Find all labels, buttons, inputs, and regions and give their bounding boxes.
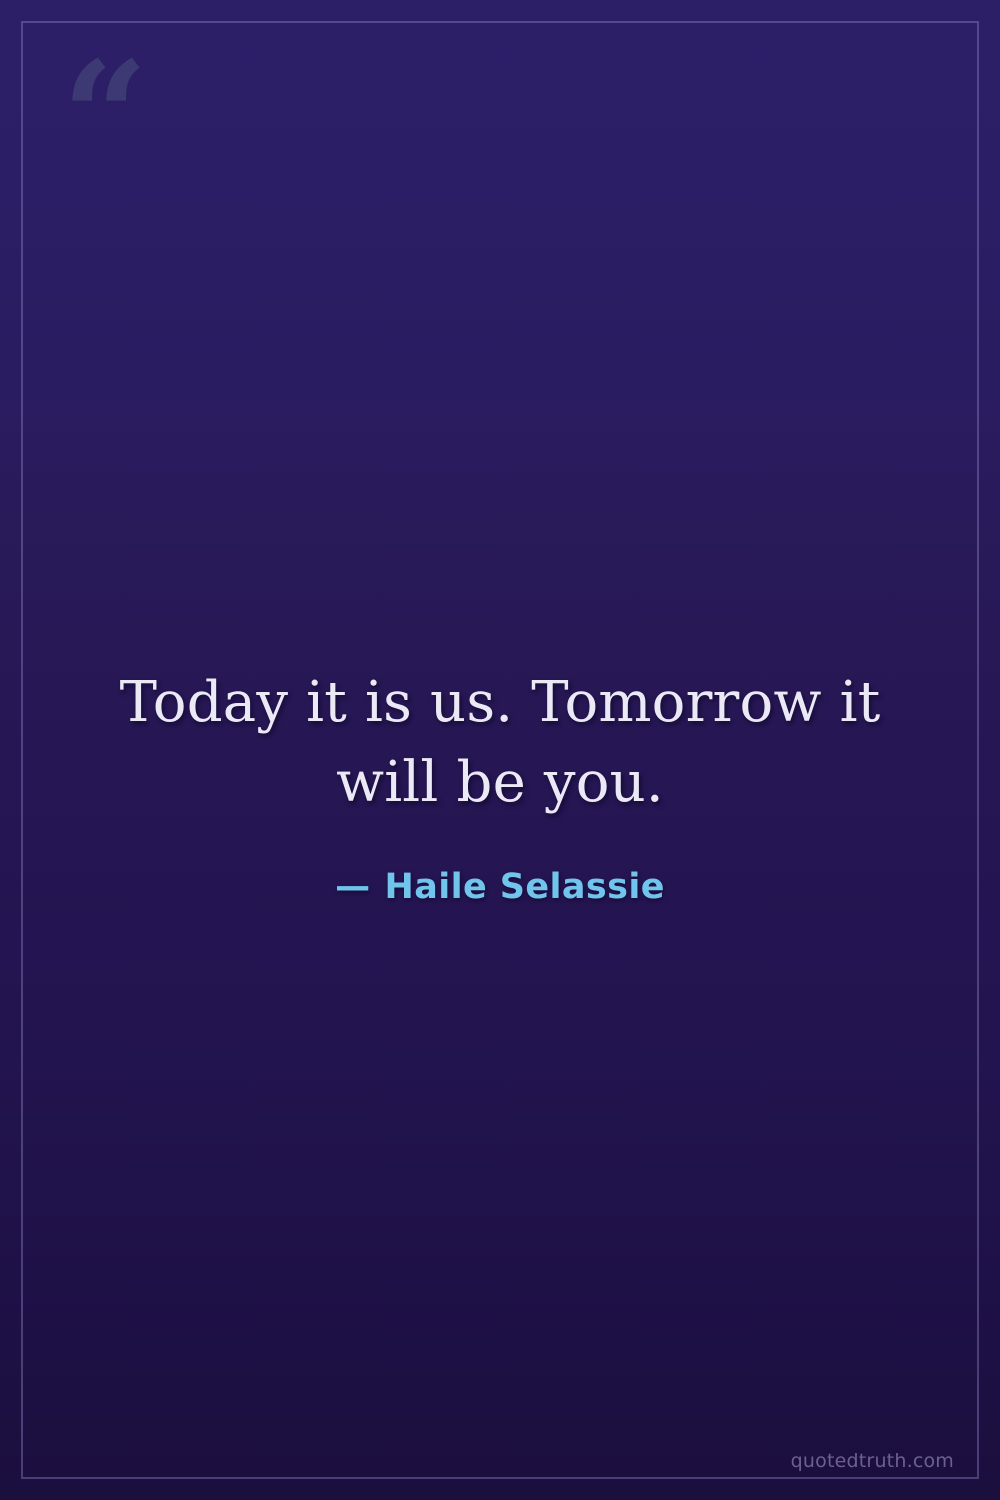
quote-attribution: —Haile Selassie bbox=[335, 867, 665, 907]
site-watermark: quotedtruth.com bbox=[791, 1450, 954, 1472]
quote-card: “ Today it is us. Tomorrow it will be yo… bbox=[0, 0, 1000, 1500]
quote-text: Today it is us. Tomorrow it will be you. bbox=[100, 663, 900, 822]
attribution-dash: — bbox=[335, 867, 370, 907]
quote-content: Today it is us. Tomorrow it will be you.… bbox=[0, 0, 1000, 1500]
attribution-author: Haile Selassie bbox=[385, 867, 665, 907]
